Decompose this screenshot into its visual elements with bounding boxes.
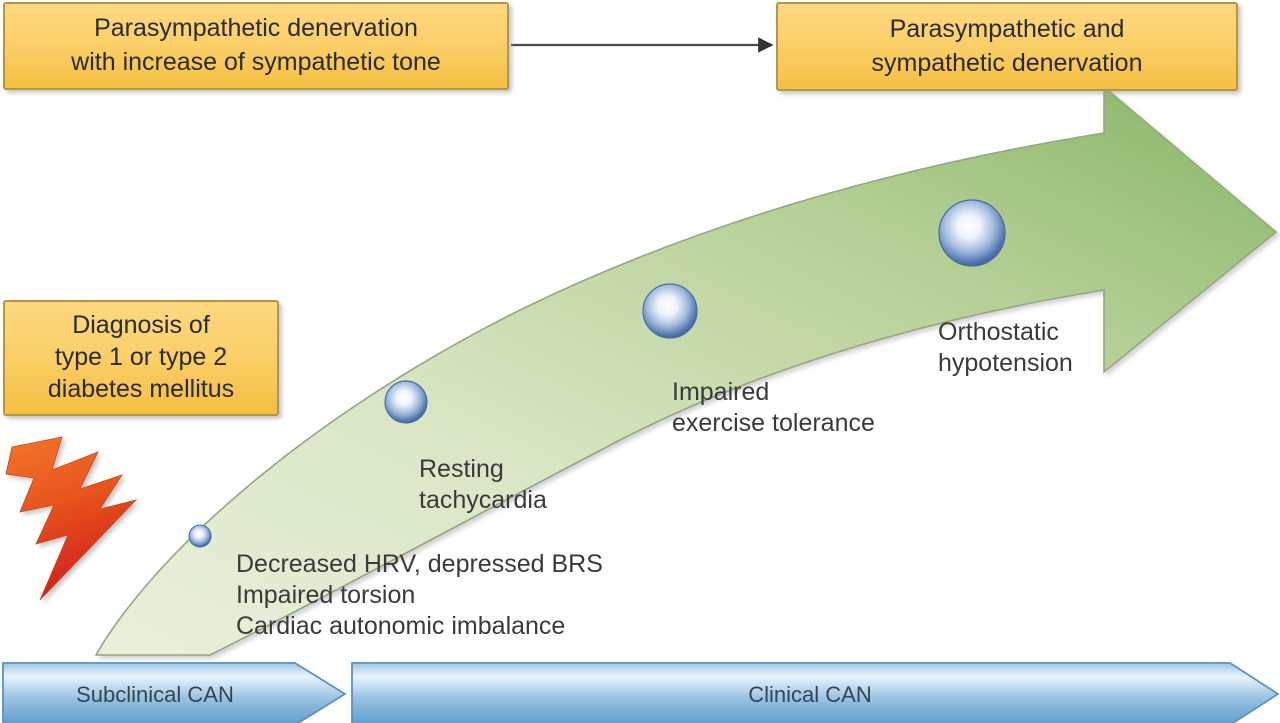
bar-clinical-can-label: Clinical CAN	[748, 682, 871, 707]
bar-subclinical-can[interactable]: Subclinical CAN	[3, 663, 345, 723]
box2-line2: sympathetic denervation	[872, 49, 1143, 77]
bolt-onset-icon	[6, 437, 136, 600]
stage-label-impaired-exercise-tolerance: Impaired exercise tolerance	[672, 378, 875, 437]
severity-marker-4	[939, 200, 1005, 266]
box1-line1: Parasympathetic denervation	[94, 14, 418, 42]
box3-line3: diabetes mellitus	[48, 375, 234, 403]
box2-line1: Parasympathetic and	[890, 15, 1125, 43]
box3-line1: Diagnosis of	[72, 311, 210, 339]
stage4-line1: Orthostatic	[938, 318, 1059, 346]
stage4-line2: hypotension	[938, 349, 1073, 377]
stage3-line1: Impaired	[672, 378, 769, 406]
severity-marker-1	[189, 525, 211, 547]
box3-line2: type 1 or type 2	[55, 343, 227, 371]
severity-marker-3	[643, 284, 697, 338]
severity-marker-2	[385, 381, 427, 423]
stage1-line3: Cardiac autonomic imbalance	[236, 612, 565, 640]
box-parasympathetic-and-sympathetic-denervation[interactable]: Parasympathetic and sympathetic denervat…	[777, 3, 1237, 90]
stage1-line2: Impaired torsion	[236, 581, 415, 609]
box-diagnosis[interactable]: Diagnosis of type 1 or type 2 diabetes m…	[4, 301, 278, 415]
stage3-line2: exercise tolerance	[672, 409, 875, 437]
progression-diagram: Parasympathetic denervation with increas…	[0, 0, 1280, 723]
stage1-line1: Decreased HRV, depressed BRS	[236, 550, 603, 578]
bar-subclinical-can-label: Subclinical CAN	[76, 682, 234, 707]
stage2-line2: tachycardia	[419, 486, 547, 514]
stage2-line1: Resting	[419, 455, 504, 483]
stage-label-subclinical-findings: Decreased HRV, depressed BRS Impaired to…	[236, 550, 603, 640]
bar-clinical-can[interactable]: Clinical CAN	[352, 663, 1278, 723]
stage-label-orthostatic-hypotension: Orthostatic hypotension	[938, 318, 1073, 377]
box1-line2: with increase of sympathetic tone	[70, 48, 441, 76]
box-parasympathetic-denervation[interactable]: Parasympathetic denervation with increas…	[4, 3, 508, 89]
figure-canvas: Parasympathetic denervation with increas…	[0, 0, 1280, 723]
